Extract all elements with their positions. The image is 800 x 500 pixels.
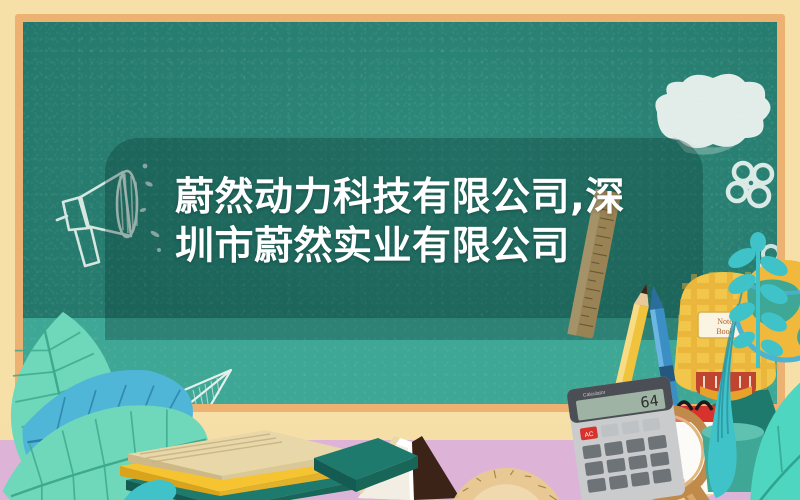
calculator-display: 64: [639, 391, 659, 411]
protractor-illustration-icon: [432, 444, 562, 500]
banner-image: 蔚然动力科技有限公司,深 圳市蔚然实业有限公司: [0, 0, 800, 500]
leaf-bottom-sprig-icon: [112, 474, 182, 500]
headline-line-1: 蔚然动力科技有限公司,深: [175, 173, 645, 222]
calculator-ac-key: AC: [584, 431, 594, 439]
flower-chalk-doodle-icon: [721, 156, 777, 218]
page-title: 蔚然动力科技有限公司,深 圳市蔚然实业有限公司: [175, 173, 645, 271]
calculator-illustration-icon: 64 Calculator AC: [560, 380, 696, 500]
leaf-large-right-illustration-icon: [742, 352, 800, 500]
headline-line-2: 圳市蔚然实业有限公司: [175, 222, 645, 271]
book-teal-illustration-icon: [312, 436, 422, 500]
